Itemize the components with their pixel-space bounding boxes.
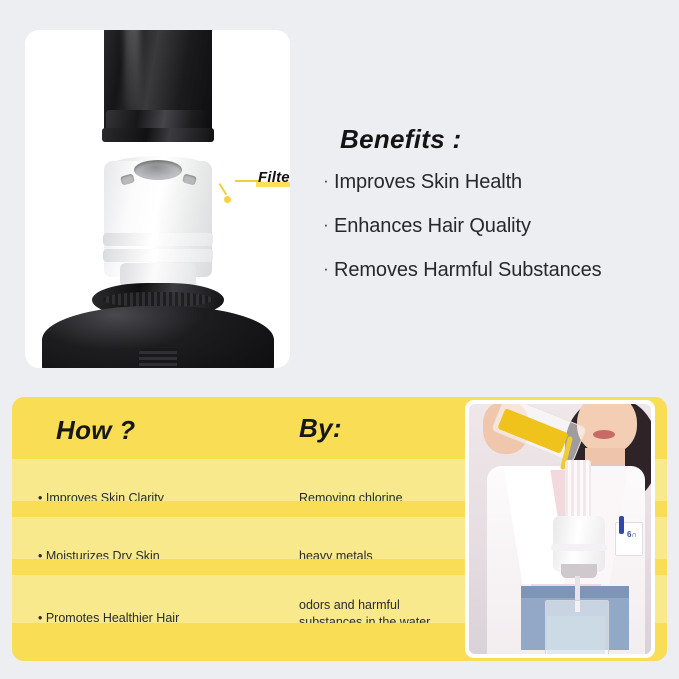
benefit-label: Removes Harmful Substances — [334, 258, 602, 283]
badge-icon: 6∩ — [627, 530, 637, 539]
filter-unit-ring — [551, 544, 607, 551]
filter-tubes — [565, 460, 591, 520]
benefit-item: · Improves Skin Health — [318, 170, 670, 195]
bullet-icon: · — [318, 258, 334, 280]
benefit-item: · Enhances Hair Quality — [318, 214, 670, 239]
shower-head-grip — [139, 348, 177, 368]
filter-ring-upper — [103, 233, 213, 246]
bullet-icon: · — [318, 170, 334, 192]
product-photo-card: Filter — [25, 30, 290, 368]
pen-icon — [619, 516, 624, 534]
filter-ring-lower — [103, 249, 213, 262]
comparison-header-by: By: — [299, 413, 342, 444]
cap-highlight — [124, 30, 140, 110]
comparison-header-how: How ? — [56, 415, 136, 446]
benefits-section: Benefits : · Improves Skin Health · Enha… — [340, 126, 670, 302]
woman-face — [577, 404, 637, 454]
woman-lips — [593, 430, 615, 439]
benefits-heading: Benefits : — [340, 126, 670, 152]
benefit-label: Enhances Hair Quality — [334, 214, 531, 239]
benefit-label: Improves Skin Health — [334, 170, 522, 195]
cap-lip — [102, 128, 214, 142]
callout-anchor-dot — [224, 196, 231, 203]
benefit-item: · Removes Harmful Substances — [318, 258, 670, 283]
shower-head-cap — [104, 30, 212, 136]
bullet-icon: · — [318, 214, 334, 236]
filter-inlet-hole — [134, 160, 182, 180]
lab-photo-frame: 6∩ — [465, 400, 655, 658]
filtered-water — [547, 616, 605, 654]
comparison-panel: How ? By: • Improves Skin Clarity Removi… — [12, 397, 667, 661]
filter-callout-label: Filter — [256, 169, 290, 187]
page-root: Filter Benefits : · Improves Skin Health… — [0, 0, 679, 679]
product-photo: Filter — [25, 30, 290, 368]
lab-photo: 6∩ — [469, 404, 651, 654]
